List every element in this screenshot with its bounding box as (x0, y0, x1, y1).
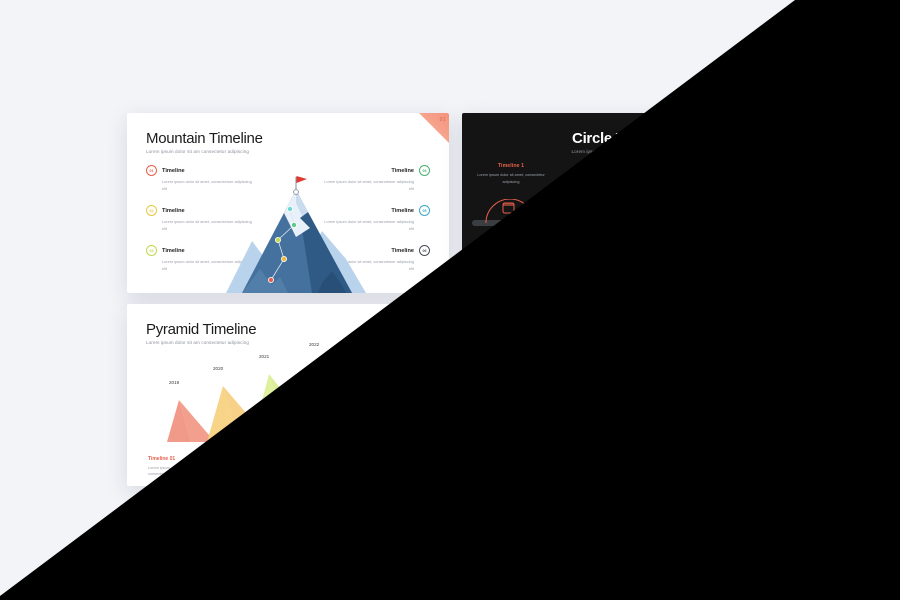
number-badge-icon: 03 (481, 440, 492, 451)
circle-timeline-graphic (472, 199, 774, 247)
pyramid-legend-05[interactable]: Timeline 05 Lorem ipsum dolor sit amet, … (388, 456, 448, 478)
slide-mountain-timeline-dark[interactable]: 04 Mountain Timeline Lorem ipsum dolor s… (462, 304, 784, 486)
node-title: Timeline 3 (572, 163, 650, 169)
page-title: Mountain Timeline (146, 130, 263, 147)
corner-fold-badge: 04 (754, 304, 784, 334)
diagonal-dark-overlay (0, 0, 900, 600)
page-subtitle: Lorem ipsum dolor sit am consectetur adi… (146, 149, 249, 154)
pyramid-legend-04[interactable]: Timeline 04 Lorem ipsum dolor sit amet, … (328, 456, 388, 478)
timeline-item-title: Timeline (726, 363, 749, 369)
circle-date-3: Oct, 2022 (582, 232, 600, 237)
node-desc: Lorem ipsum dolor sit amet, consectetur … (472, 172, 550, 186)
timeline-item-title: Timeline (726, 443, 749, 449)
pyramid-year-2023: 2023 (355, 330, 365, 335)
node-desc: Lorem ipsum dolor sit amet, consectetur … (520, 250, 598, 264)
legend-desc: Lorem ipsum dolor sit amet, consectetuer (268, 465, 328, 478)
timeline-item-title: Timeline (162, 168, 185, 174)
number-badge-icon: 01 (146, 165, 157, 176)
corner-tag-label: 04 (775, 308, 781, 314)
page-title: Mountain Timeline (481, 321, 607, 338)
number-badge-icon: 04 (419, 165, 430, 176)
pyramid-chart (151, 348, 431, 442)
mountain-illustration (561, 368, 701, 486)
corner-tag-label: 02 (775, 117, 781, 123)
circle-date-6: Jan, 2023 (744, 211, 762, 216)
legend-desc: Lorem ipsum dolor sit amet, consectetuer (328, 465, 388, 478)
legend-title: Timeline 01 (148, 456, 208, 462)
pyramid-year-2019: 2019 (169, 380, 179, 385)
pyramid-year-2022: 2022 (309, 342, 319, 347)
number-badge-icon: 06 (754, 440, 765, 451)
corner-fold-badge: 03 (419, 304, 449, 334)
circle-date-4: Nov, 2022 (648, 211, 667, 216)
slide-mountain-timeline-light[interactable]: 01 Mountain Timeline Lorem ipsum dolor s… (127, 113, 449, 293)
node-title: Timeline 5 (674, 163, 752, 169)
timeline-item-title: Timeline (497, 443, 520, 449)
page-subtitle: Lorem ipsum dolor sit am consectetur adi… (146, 340, 249, 345)
legend-title: Timeline 03 (268, 456, 328, 462)
circle-date-5: Dec, 2021 (678, 232, 697, 237)
pyramid-legend-01[interactable]: Timeline 01 Lorem ipsum dolor sit amet, … (148, 456, 208, 478)
corner-tag-label: 01 (440, 117, 446, 123)
timeline-item-title: Timeline (391, 168, 414, 174)
circle-node-label-1[interactable]: Timeline 1 Lorem ipsum dolor sit amet, c… (472, 163, 550, 186)
number-badge-icon: 01 (481, 360, 492, 371)
node-desc: Lorem ipsum dolor sit amet, consectetur … (674, 172, 752, 186)
number-badge-icon: 02 (146, 205, 157, 216)
timeline-item-title: Timeline (497, 363, 520, 369)
corner-fold-badge: 01 (419, 113, 449, 143)
legend-title: Timeline 05 (388, 456, 448, 462)
page-title: Circle Timeline (462, 130, 784, 147)
circle-node-label-5[interactable]: Timeline 5 Lorem ipsum dolor sit amet, c… (674, 163, 752, 186)
timeline-item-title: Timeline (391, 248, 414, 254)
mountain-illustration (226, 173, 366, 293)
timeline-item-title: Timeline (162, 248, 185, 254)
timeline-item-title: Timeline (162, 208, 185, 214)
legend-desc: Lorem ipsum dolor sit amet, consectetuer (388, 465, 448, 478)
pyramid-year-2020: 2020 (213, 366, 223, 371)
legend-title: Timeline 02 (208, 456, 268, 462)
legend-divider (383, 452, 384, 478)
page-subtitle: Lorem ipsum dolor sit am consectetur adi… (462, 149, 784, 154)
legend-desc: Lorem ipsum dolor sit amet, consectetuer (208, 465, 268, 478)
number-badge-icon: 05 (754, 400, 765, 411)
page-subtitle: Lorem ipsum dolor sit am consectetur adi… (481, 342, 584, 347)
timeline-item-title: Timeline (726, 403, 749, 409)
circle-node-label-3[interactable]: Timeline 3 Lorem ipsum dolor sit amet, c… (572, 163, 650, 186)
node-title: Timeline 1 (472, 163, 550, 169)
circle-date-1: Aug, 2020 (486, 232, 505, 237)
node-desc: Lorem ipsum dolor sit amet, consectetur … (572, 172, 650, 186)
legend-desc: Lorem ipsum dolor sit amet, consectetuer (148, 465, 208, 478)
page-title: Pyramid Timeline (146, 321, 256, 338)
screenshot-canvas: 01 Mountain Timeline Lorem ipsum dolor s… (0, 0, 900, 600)
corner-tag-label: 03 (440, 308, 446, 314)
circle-date-2: Sep, 2021 (552, 211, 571, 216)
timeline-item-title: Timeline (497, 403, 520, 409)
number-badge-icon: 04 (754, 360, 765, 371)
legend-divider (203, 452, 204, 478)
pyramid-year-2021: 2021 (259, 354, 269, 359)
slide-circle-timeline-dark[interactable]: 02 Circle Timeline Lorem ipsum dolor sit… (462, 113, 784, 293)
legend-title: Timeline 04 (328, 456, 388, 462)
legend-divider (323, 452, 324, 478)
timeline-item-title: Timeline (391, 208, 414, 214)
pyramid-legend-03[interactable]: Timeline 03 Lorem ipsum dolor sit amet, … (268, 456, 328, 478)
number-badge-icon: 06 (419, 245, 430, 256)
node-desc: Lorem ipsum dolor sit amet, consectetur … (710, 250, 784, 264)
number-badge-icon: 05 (419, 205, 430, 216)
number-badge-icon: 03 (146, 245, 157, 256)
number-badge-icon: 02 (481, 400, 492, 411)
node-desc: Lorem ipsum dolor sit amet, consectetur … (618, 250, 696, 264)
pyramid-legend-02[interactable]: Timeline 02 Lorem ipsum dolor sit amet, … (208, 456, 268, 478)
slide-pyramid-timeline-light[interactable]: 03 Pyramid Timeline Lorem ipsum dolor si… (127, 304, 449, 486)
legend-divider (263, 452, 264, 478)
